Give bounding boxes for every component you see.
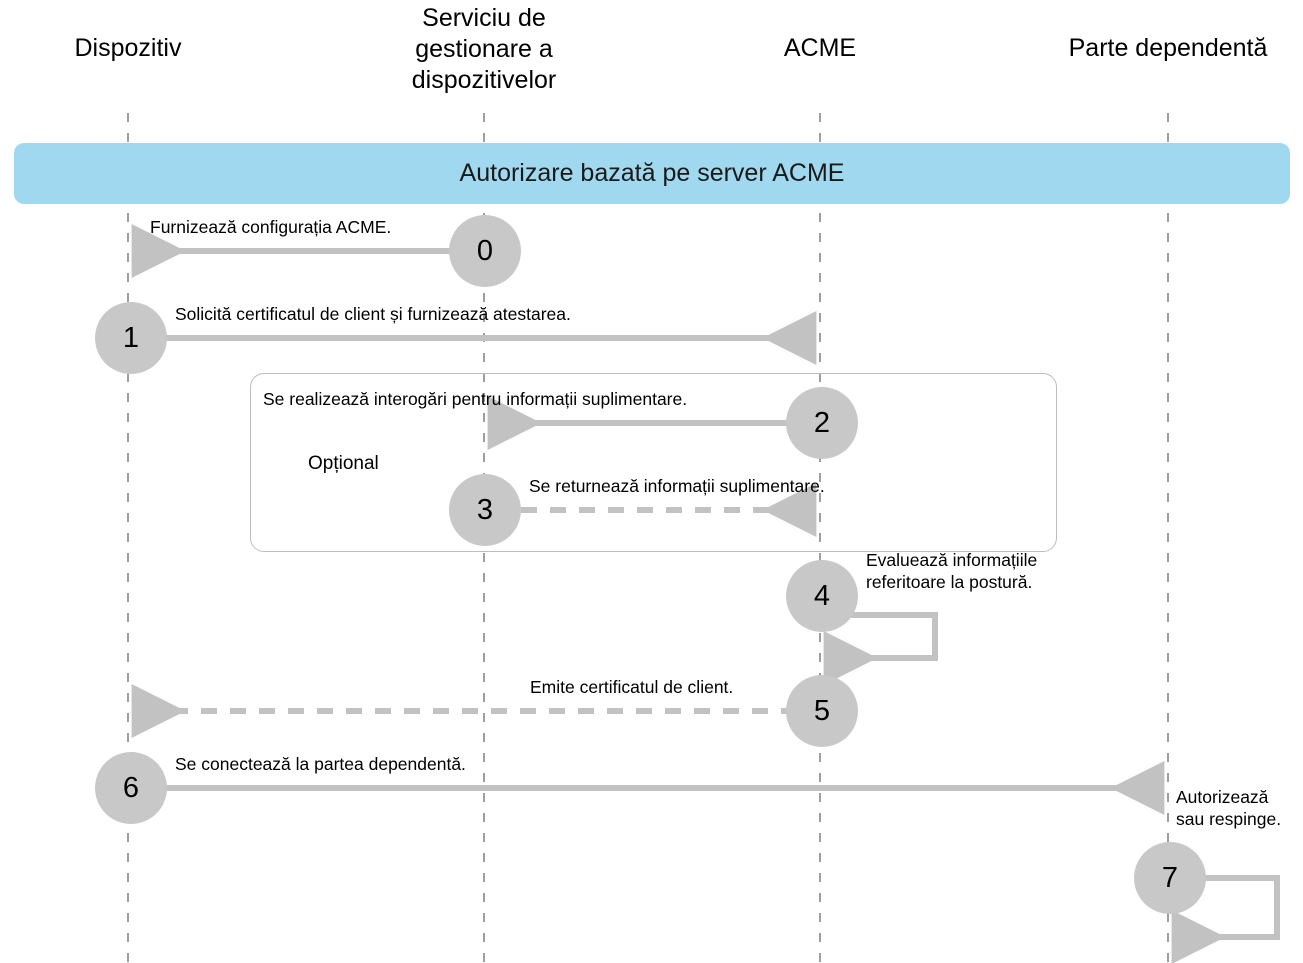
step-marker-3[interactable]: 3 <box>449 474 521 546</box>
sequence-diagram: Dispozitiv Serviciu de gestionare a disp… <box>0 0 1303 963</box>
step-label-3: Se returnează informații suplimentare. <box>529 475 825 497</box>
step-marker-4[interactable]: 4 <box>786 560 858 632</box>
step-label-5: Emite certificatul de client. <box>530 676 733 698</box>
step-label-2: Se realizează interogări pentru informaț… <box>263 388 687 410</box>
step-label-0: Furnizează configurația ACME. <box>150 216 391 238</box>
step-marker-6[interactable]: 6 <box>95 752 167 824</box>
step-marker-7[interactable]: 7 <box>1134 842 1206 914</box>
step-marker-1[interactable]: 1 <box>95 302 167 374</box>
step-marker-0[interactable]: 0 <box>449 215 521 287</box>
step-label-6: Se conectează la partea dependentă. <box>175 753 466 775</box>
step-label-7: Autorizează sau respinge. <box>1176 786 1281 830</box>
step-label-4: Evaluează informațiile referitoare la po… <box>866 549 1037 593</box>
step-marker-5[interactable]: 5 <box>786 675 858 747</box>
step-marker-2[interactable]: 2 <box>786 387 858 459</box>
step-label-1: Solicită certificatul de client și furni… <box>175 303 571 325</box>
